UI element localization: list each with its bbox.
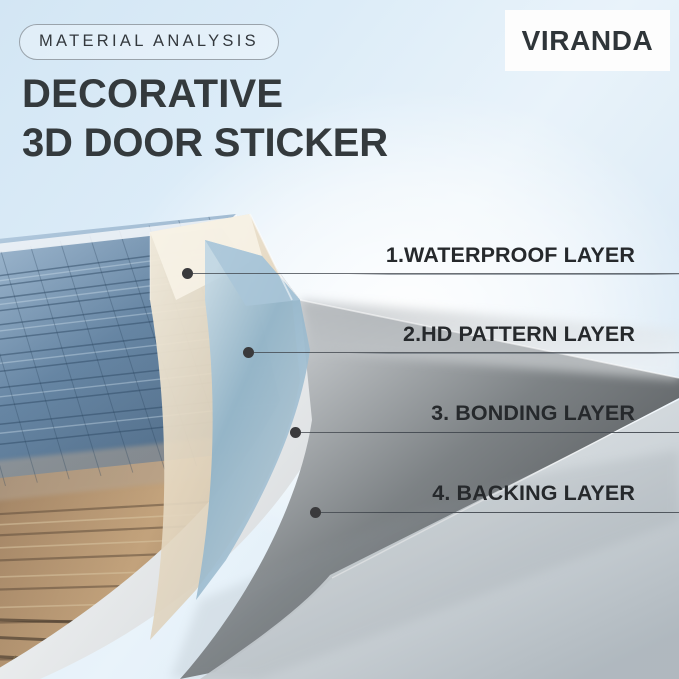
callout-rule-2 — [349, 353, 679, 354]
callout-rule-1 — [349, 274, 679, 275]
leader-line-2 — [254, 352, 679, 353]
callout-label-1: 1.WATERPROOF LAYER — [349, 243, 679, 275]
leader-line-1 — [193, 273, 679, 274]
callout-label-4: 4. BACKING LAYER — [349, 481, 679, 513]
page-title: DECORATIVE 3D DOOR STICKER — [22, 70, 388, 168]
leader-line-3 — [301, 432, 679, 433]
callout-label-2: 2.HD PATTERN LAYER — [349, 322, 679, 354]
callout-label-3-text: 3. BONDING LAYER — [349, 401, 679, 432]
callout-dot-4 — [310, 507, 321, 518]
callout-dot-1 — [182, 268, 193, 279]
leader-line-4 — [321, 512, 679, 513]
page-title-line2: 3D DOOR STICKER — [22, 119, 388, 168]
page-title-line1: DECORATIVE — [22, 72, 283, 116]
callout-label-3: 3. BONDING LAYER — [349, 401, 679, 433]
callout-dot-2 — [243, 347, 254, 358]
callout-label-4-text: 4. BACKING LAYER — [349, 481, 679, 512]
poster-canvas: MATERIAL ANALYSIS DECORATIVE 3D DOOR STI… — [0, 0, 679, 679]
badge-material-analysis: MATERIAL ANALYSIS — [19, 24, 279, 60]
callout-label-1-text: 1.WATERPROOF LAYER — [349, 243, 679, 274]
brand-logo-text: VIRANDA — [522, 25, 654, 57]
callout-dot-3 — [290, 427, 301, 438]
brand-logo: VIRANDA — [505, 10, 670, 71]
callout-label-2-text: 2.HD PATTERN LAYER — [349, 322, 679, 353]
